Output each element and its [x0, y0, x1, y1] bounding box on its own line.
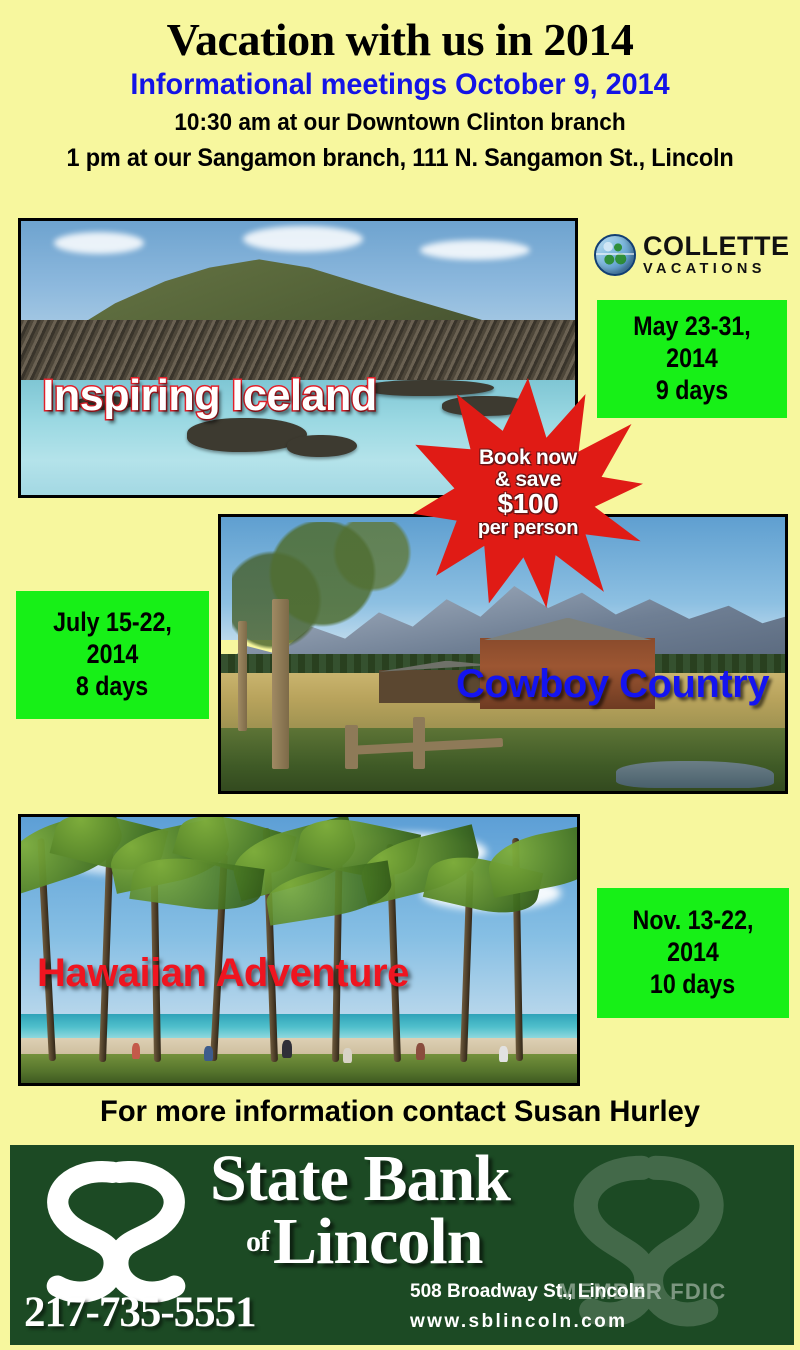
collette-name: COLLETTE [643, 233, 790, 260]
beach-figure [282, 1040, 292, 1058]
collette-wordmark: COLLETTE VACATIONS [643, 233, 790, 277]
beach-figure [204, 1046, 213, 1061]
promo-text-group: Book now & save $100 per person [413, 378, 643, 608]
sb-monogram-icon [26, 1151, 206, 1311]
page-title: Vacation with us in 2014 [2, 16, 798, 64]
ad-header: Vacation with us in 2014 Informational m… [2, 2, 798, 174]
collette-vacations-logo: COLLETTE VACATIONS [594, 224, 794, 286]
bank-footer: State Bank ofLincoln MEMBER FDIC 217-735… [10, 1145, 794, 1345]
beach-figure [132, 1043, 140, 1059]
trip-date-range: May 23-31, 2014 [610, 311, 773, 375]
trip-dates-hawaiian-adventure: Nov. 13-22, 2014 10 days [597, 888, 789, 1018]
trip-duration: 10 days [650, 969, 735, 1001]
trip-date-range: Nov. 13-22, 2014 [610, 905, 775, 969]
bank-name-of: of [246, 1225, 269, 1258]
trip-dates-cowboy-country: July 15-22, 2014 8 days [16, 591, 209, 719]
pond-shape [616, 761, 774, 788]
bank-name-line-2: ofLincoln [246, 1210, 770, 1273]
rock-shape [287, 435, 357, 457]
contact-line: For more information contact Susan Hurle… [14, 1095, 786, 1129]
vacation-advertisement: Vacation with us in 2014 Informational m… [0, 0, 800, 1350]
fence-post-shape [238, 621, 247, 731]
beach-figure [499, 1046, 508, 1062]
globe-icon [594, 234, 636, 276]
meetings-subtitle: Informational meetings October 9, 2014 [18, 68, 782, 103]
trip-caption-cowboy-country: Cowboy Country [456, 662, 769, 707]
trip-date-range: July 15-22, 2014 [30, 607, 196, 671]
beach-figure [416, 1043, 425, 1060]
collette-subname: VACATIONS [643, 262, 790, 277]
promo-starburst-badge[interactable]: Book now & save $100 per person [413, 378, 643, 608]
bank-name-line-1: State Bank [210, 1147, 770, 1210]
bank-address: 508 Broadway St., Lincoln [410, 1281, 645, 1303]
bank-wordmark: State Bank ofLincoln [210, 1147, 770, 1274]
beach-figure [343, 1048, 352, 1063]
trip-photo-hawaiian-adventure: Hawaiian Adventure [18, 814, 580, 1086]
trip-caption-hawaiian-adventure: Hawaiian Adventure [37, 951, 409, 996]
bank-name-lincoln: Lincoln [273, 1205, 482, 1278]
fence-post-shape [272, 599, 289, 769]
promo-line-4: per person [478, 518, 578, 538]
trip-duration: 8 days [76, 671, 148, 703]
meeting-time-sangamon: 1 pm at our Sangamon branch, 111 N. Sang… [26, 143, 774, 174]
trip-caption-iceland: Inspiring Iceland [42, 371, 376, 421]
bank-website-link[interactable]: www.sblincoln.com [410, 1311, 627, 1333]
meeting-time-clinton: 10:30 am at our Downtown Clinton branch [26, 108, 774, 138]
trip-duration: 9 days [656, 375, 728, 407]
bank-phone-number[interactable]: 217-735-5551 [24, 1288, 256, 1337]
promo-line-2: & save [495, 469, 561, 490]
promo-line-1: Book now [479, 447, 577, 468]
cloud-shape [54, 232, 144, 254]
promo-amount: $100 [497, 490, 558, 519]
